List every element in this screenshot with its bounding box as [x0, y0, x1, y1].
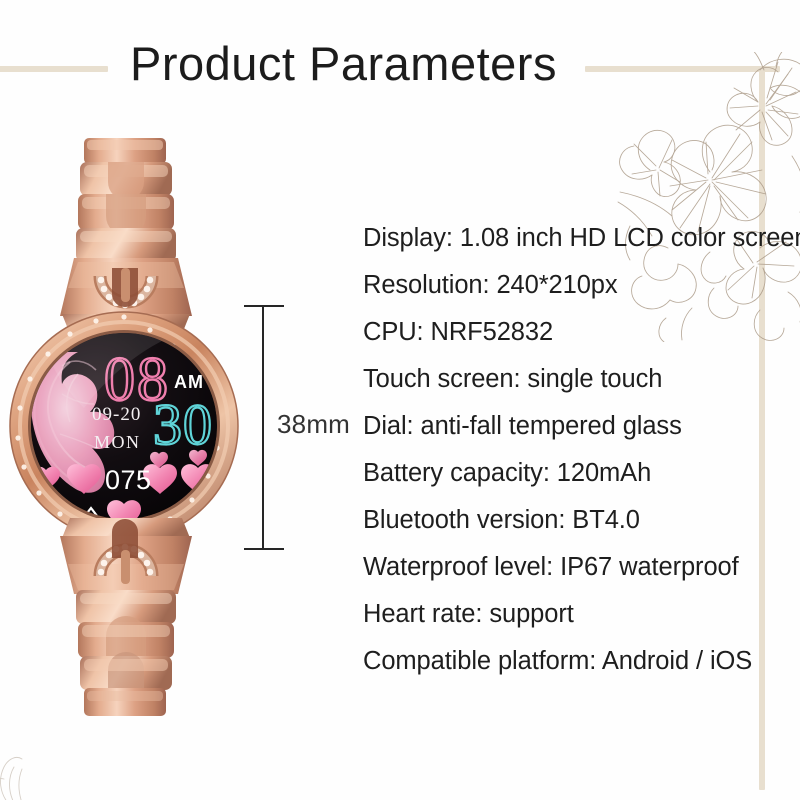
watch-weekday: MON — [94, 432, 141, 452]
dimension-vertical-line — [262, 305, 264, 550]
smartwatch-product-image: 08 AM 30 09-20 MON 075 — [8, 138, 258, 728]
spec-item-platform: Compatible platform: Android / iOS — [363, 638, 783, 685]
watch-steps: 075 — [105, 465, 152, 495]
specifications-list: Display: 1.08 inch HD LCD color screen R… — [363, 215, 783, 685]
page-title: Product Parameters — [130, 38, 557, 90]
watch-band-bottom — [60, 518, 192, 716]
spec-item-cpu: CPU: NRF52832 — [363, 309, 783, 356]
product-parameters-page: Product Parameters — [0, 0, 800, 800]
spec-item-resolution: Resolution: 240*210px — [363, 262, 783, 309]
spec-item-bluetooth: Bluetooth version: BT4.0 — [363, 497, 783, 544]
dimension-cap-top — [244, 305, 284, 307]
floral-accent-bottom-left — [0, 735, 58, 800]
spec-item-heartrate: Heart rate: support — [363, 591, 783, 638]
watch-band-top — [60, 138, 192, 336]
spec-item-touch: Touch screen: single touch — [363, 356, 783, 403]
dimension-label: 38mm — [277, 409, 350, 440]
title-rule-left — [0, 66, 108, 72]
spec-item-waterproof: Waterproof level: IP67 waterproof — [363, 544, 783, 591]
title-rule-right — [585, 66, 780, 72]
spec-item-display: Display: 1.08 inch HD LCD color screen — [363, 215, 783, 262]
dimension-cap-bottom — [244, 548, 284, 550]
watch-meridiem: AM — [174, 372, 204, 392]
spec-item-dial: Dial: anti-fall tempered glass — [363, 403, 783, 450]
watch-minute: 30 — [153, 392, 213, 457]
spec-item-battery: Battery capacity: 120mAh — [363, 450, 783, 497]
watch-date: 09-20 — [92, 404, 141, 425]
